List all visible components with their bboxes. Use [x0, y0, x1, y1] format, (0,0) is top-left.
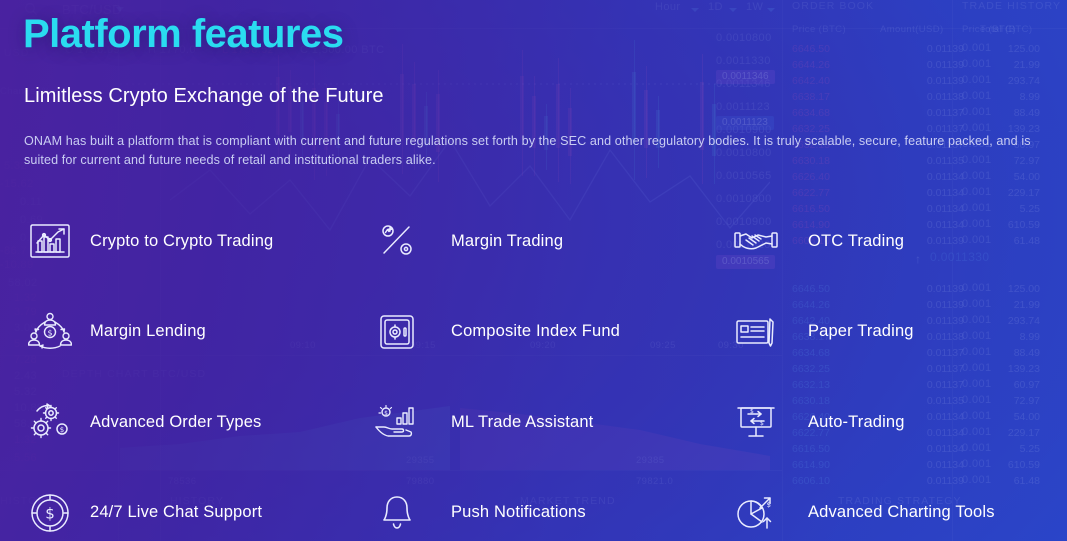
feature-item-advanced-charting-tools[interactable]: $ Advanced Charting Tools	[712, 468, 1067, 541]
pie-chart-arrow-icon: $	[730, 487, 782, 539]
platform-features-page: BTC/USD USD O 1756.09 H 1770.0 L 1756.52…	[0, 0, 1067, 541]
svg-text:$: $	[47, 328, 52, 337]
page-title: Platform features	[23, 12, 343, 57]
svg-text:$: $	[750, 408, 754, 415]
feature-item-composite-index-fund[interactable]: Composite Index Fund	[356, 287, 712, 378]
feature-label: Auto-Trading	[808, 413, 905, 432]
feature-item-crypto-to-crypto-trading[interactable]: Crypto to Crypto Trading	[0, 196, 356, 287]
presentation-board-icon: $ $	[730, 396, 782, 448]
feature-label: Advanced Order Types	[90, 413, 261, 432]
margin-lending-icon: $	[24, 306, 76, 358]
svg-text:$: $	[45, 504, 55, 522]
feature-item-auto-trading[interactable]: $ $ Auto-Trading	[712, 377, 1067, 468]
svg-text:$: $	[767, 501, 771, 509]
feature-item-margin-trading[interactable]: Margin Trading	[356, 196, 712, 287]
feature-row: $ Margin Lending	[0, 287, 1067, 378]
feature-item-live-chat-support[interactable]: $ 24/7 Live Chat Support	[0, 468, 356, 541]
feature-label: Push Notifications	[451, 503, 586, 522]
feature-label: OTC Trading	[808, 232, 904, 251]
svg-text:$: $	[384, 410, 388, 417]
feature-label: Margin Trading	[451, 232, 563, 251]
svg-text:$: $	[60, 426, 64, 434]
feature-item-paper-trading[interactable]: Paper Trading	[712, 287, 1067, 378]
svg-text:$: $	[760, 420, 764, 427]
feature-label: Composite Index Fund	[451, 322, 620, 341]
feature-item-advanced-order-types[interactable]: $ Advanced Order Types	[0, 377, 356, 468]
page-subtitle: Limitless Crypto Exchange of the Future	[24, 85, 384, 108]
gears-dollar-icon: $	[24, 396, 76, 448]
feature-row: Crypto to Crypto Trading Margin Tr	[0, 196, 1067, 287]
feature-row: $ 24/7 Live Chat Support Push	[0, 468, 1067, 541]
features-grid: Crypto to Crypto Trading Margin Tr	[0, 196, 1067, 541]
hand-coin-chart-icon: $	[371, 396, 423, 448]
feature-item-margin-lending[interactable]: $ Margin Lending	[0, 287, 356, 378]
cheque-pen-icon	[730, 306, 782, 358]
feature-label: Crypto to Crypto Trading	[90, 232, 273, 251]
feature-label: Paper Trading	[808, 322, 914, 341]
handshake-icon	[730, 215, 782, 267]
feature-item-push-notifications[interactable]: Push Notifications	[356, 468, 712, 541]
feature-row: $ Advanced Order Types $	[0, 377, 1067, 468]
feature-label: 24/7 Live Chat Support	[90, 503, 262, 522]
feature-label: Advanced Charting Tools	[808, 503, 995, 522]
feature-item-ml-trade-assistant[interactable]: $ ML Trade Assistant	[356, 377, 712, 468]
feature-label: ML Trade Assistant	[451, 413, 593, 432]
percent-chart-icon	[371, 215, 423, 267]
feature-item-otc-trading[interactable]: OTC Trading	[712, 196, 1067, 287]
page-description: ONAM has built a platform that is compli…	[24, 132, 1059, 170]
clock-dollar-icon: $	[24, 487, 76, 539]
bell-icon	[371, 487, 423, 539]
safe-vault-icon	[371, 306, 423, 358]
feature-label: Margin Lending	[90, 322, 206, 341]
bar-chart-growth-icon	[24, 215, 76, 267]
foreground-content: Platform features Limitless Crypto Excha…	[0, 0, 1067, 541]
